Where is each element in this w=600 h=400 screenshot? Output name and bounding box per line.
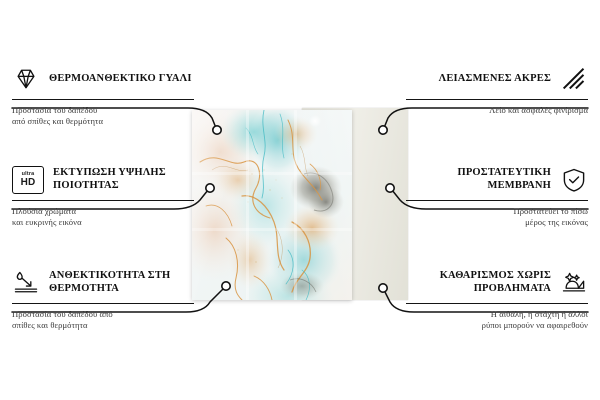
desc-line-2: και ευκρινής εικόνα (12, 217, 194, 228)
desc-line-2: σπίθες και θερμότητα (12, 320, 194, 331)
flame-deflect-icon (12, 269, 40, 297)
divider (12, 303, 194, 304)
feature-title: ΚΑΘΑΡΙΣΜΟΣ ΧΩΡΙΣ ΠΡΟΒΛΗΜΑΤΑ (406, 270, 551, 295)
feature-heat-resistant-glass: ΘΕΡΜΟΑΝΘΕΚΤΙΚΟ ΓΥΑΛΙ Προστασία του δαπέδ… (12, 62, 194, 128)
ultra-hd-icon: ultra HD (12, 166, 44, 194)
feature-protective-membrane: ΠΡΟΣΤΑΤΕΥΤΙΚΗ ΜΕΜΒΡΑΝΗ Προστατεύει το πί… (406, 163, 588, 229)
diagonal-lines-icon (560, 65, 588, 93)
desc-line-1: Προστασία του δαπέδου (12, 105, 194, 116)
feature-high-quality-print: ultra HD ΕΚΤΥΠΩΣΗ ΥΨΗΛΗΣ ΠΟΙΟΤΗΤΑΣ Πλούσ… (12, 163, 194, 229)
feature-header: ΘΕΡΜΟΑΝΘΕΚΤΙΚΟ ΓΥΑΛΙ (12, 62, 194, 96)
divider (12, 200, 194, 201)
divider (406, 303, 588, 304)
feature-header: ΠΡΟΣΤΑΤΕΥΤΙΚΗ ΜΕΜΒΡΑΝΗ (406, 163, 588, 197)
connector-dot-6 (379, 284, 387, 292)
divider (406, 99, 588, 100)
ultra-hd-bottom-label: HD (21, 178, 36, 188)
feature-title: ΕΚΤΥΠΩΣΗ ΥΨΗΛΗΣ ΠΟΙΟΤΗΤΑΣ (53, 167, 194, 192)
connector-dot-5 (386, 184, 394, 192)
connector-dot-3 (222, 282, 230, 290)
desc-line-2: μέρος της εικόνας (406, 217, 588, 228)
desc-line-2: από σπίθες και θερμότητα (12, 116, 194, 127)
connector-dot-1 (213, 126, 221, 134)
feature-easy-cleaning: ΚΑΘΑΡΙΣΜΟΣ ΧΩΡΙΣ ΠΡΟΒΛΗΜΑΤΑ Η αιθάλη, η … (406, 266, 588, 332)
feature-header: ultra HD ΕΚΤΥΠΩΣΗ ΥΨΗΛΗΣ ΠΟΙΟΤΗΤΑΣ (12, 163, 194, 197)
shield-check-icon (560, 166, 588, 194)
feature-description: Πλούσια χρώματα και ευκρινής εικόνα (12, 206, 194, 229)
feature-polished-edges: ΛΕΙΑΣΜΕΝΕΣ ΑΚΡΕΣ Λείο και ασφαλές φινίρι… (406, 62, 588, 116)
divider (12, 99, 194, 100)
feature-description: Λείο και ασφαλές φινίρισμα (406, 105, 588, 116)
infographic-canvas: ΘΕΡΜΟΑΝΘΕΚΤΙΚΟ ΓΥΑΛΙ Προστασία του δαπέδ… (0, 0, 600, 400)
feature-title: ΠΡΟΣΤΑΤΕΥΤΙΚΗ ΜΕΜΒΡΑΝΗ (406, 167, 551, 192)
feature-header: ΛΕΙΑΣΜΕΝΕΣ ΑΚΡΕΣ (406, 62, 588, 96)
desc-line-1: Λείο και ασφαλές φινίρισμα (406, 105, 588, 116)
desc-line-1: Προστασία του δαπέδου από (12, 309, 194, 320)
desc-line-1: Προστατεύει το πίσω (406, 206, 588, 217)
feature-title: ΛΕΙΑΣΜΕΝΕΣ ΑΚΡΕΣ (439, 73, 551, 86)
desc-line-2: ρύποι μπορούν να αφαιρεθούν (406, 320, 588, 331)
diamond-icon (12, 65, 40, 93)
feature-description: Προστασία του δαπέδου από σπίθες και θερ… (12, 309, 194, 332)
feature-title: ΑΝΘΕΚΤΙΚΟΤΗΤΑ ΣΤΗ ΘΕΡΜΟΤΗΤΑ (49, 270, 194, 295)
feature-heat-durability: ΑΝΘΕΚΤΙΚΟΤΗΤΑ ΣΤΗ ΘΕΡΜΟΤΗΤΑ Προστασία το… (12, 266, 194, 332)
sponge-sparkle-icon (560, 269, 588, 297)
divider (406, 200, 588, 201)
feature-description: Η αιθάλη, η στάχτη ή άλλοι ρύποι μπορούν… (406, 309, 588, 332)
feature-title: ΘΕΡΜΟΑΝΘΕΚΤΙΚΟ ΓΥΑΛΙ (49, 73, 192, 86)
desc-line-1: Πλούσια χρώματα (12, 206, 194, 217)
connector-dot-4 (379, 126, 387, 134)
desc-line-1: Η αιθάλη, η στάχτη ή άλλοι (406, 309, 588, 320)
feature-header: ΚΑΘΑΡΙΣΜΟΣ ΧΩΡΙΣ ΠΡΟΒΛΗΜΑΤΑ (406, 266, 588, 300)
feature-header: ΑΝΘΕΚΤΙΚΟΤΗΤΑ ΣΤΗ ΘΕΡΜΟΤΗΤΑ (12, 266, 194, 300)
connector-dot-2 (206, 184, 214, 192)
feature-description: Προστατεύει το πίσω μέρος της εικόνας (406, 206, 588, 229)
feature-description: Προστασία του δαπέδου από σπίθες και θερ… (12, 105, 194, 128)
